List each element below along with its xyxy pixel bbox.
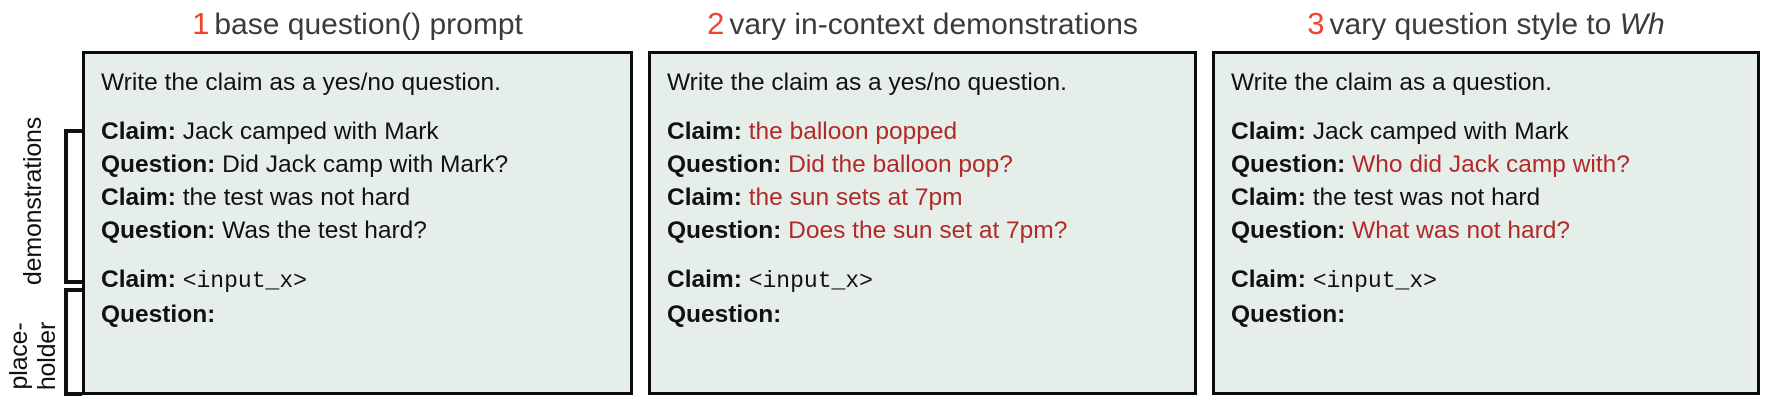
demo-value: Does the sun set at 7pm? — [788, 217, 1067, 244]
demo-label: Claim: — [101, 118, 176, 145]
demo-label: Question: — [667, 217, 781, 244]
panel-title-italic-3: Wh — [1620, 8, 1665, 41]
demo-value: Who did Jack camp with? — [1352, 151, 1630, 178]
demo-line: Question: What was not hard? — [1231, 214, 1757, 247]
placeholder-label-line1: place- — [5, 297, 33, 415]
demo-label: Claim: — [101, 184, 176, 211]
instruction-line-1: Write the claim as a yes/no question. — [101, 66, 630, 99]
placeholder-label: Claim: — [667, 266, 742, 293]
demo-value: Jack camped with Mark — [183, 118, 439, 145]
demo-line: Claim: Jack camped with Mark — [1231, 115, 1757, 148]
demo-value: the sun sets at 7pm — [749, 184, 963, 211]
demo-line: Claim: Jack camped with Mark — [101, 115, 630, 148]
demo-line: Question: Did Jack camp with Mark? — [101, 148, 630, 181]
placeholder-label: place- holder — [5, 297, 65, 415]
placeholder-label: Claim: — [1231, 266, 1306, 293]
demo-value: the balloon popped — [749, 118, 957, 145]
demo-value: Did the balloon pop? — [788, 151, 1013, 178]
panel-number-1: 1 — [192, 6, 214, 41]
demo-label: Question: — [1231, 217, 1345, 244]
placeholder-line: Claim: <input_x> — [1231, 263, 1757, 298]
placeholder-line: Question: — [667, 298, 1194, 331]
demo-label: Question: — [101, 151, 215, 178]
placeholder-line: Claim: <input_x> — [101, 263, 630, 298]
placeholder-line: Question: — [1231, 298, 1757, 331]
panel-title-text-2: vary in-context demonstrations — [729, 8, 1138, 41]
placeholder-line: Question: — [101, 298, 630, 331]
demo-label: Question: — [101, 217, 215, 244]
placeholder-token: <input_x> — [1313, 268, 1437, 294]
panel-title-2: 2vary in-context demonstrations — [648, 4, 1197, 45]
demonstrations-label: demonstrations — [18, 116, 48, 286]
demo-line: Claim: the test was not hard — [101, 181, 630, 214]
placeholder-label: Question: — [1231, 301, 1345, 328]
instruction-line-3: Write the claim as a question. — [1231, 66, 1757, 99]
prompt-box-2: Write the claim as a yes/no question. Cl… — [648, 51, 1197, 395]
placeholder-bracket — [64, 288, 82, 396]
instruction-line-2: Write the claim as a yes/no question. — [667, 66, 1194, 99]
demo-label: Question: — [667, 151, 781, 178]
prompt-box-3: Write the claim as a question. Claim: Ja… — [1212, 51, 1760, 395]
panel-title-1: 1base question() prompt — [82, 4, 633, 45]
demo-line: Question: Who did Jack camp with? — [1231, 148, 1757, 181]
demo-label: Question: — [1231, 151, 1345, 178]
prompt-box-1: Write the claim as a yes/no question. Cl… — [82, 51, 633, 395]
demo-line: Question: Was the test hard? — [101, 214, 630, 247]
demo-line: Question: Does the sun set at 7pm? — [667, 214, 1194, 247]
placeholder-token: <input_x> — [183, 268, 307, 294]
panel-title-text-3: vary question style to — [1330, 8, 1620, 41]
demo-value: Did Jack camp with Mark? — [222, 151, 508, 178]
demo-value: Jack camped with Mark — [1313, 118, 1569, 145]
demo-line: Claim: the sun sets at 7pm — [667, 181, 1194, 214]
sidebar-labels: demonstrations place- holder — [0, 0, 84, 416]
panel-title-text-1: base question() prompt — [214, 8, 523, 41]
demo-line: Claim: the balloon popped — [667, 115, 1194, 148]
panel-title-3: 3vary question style to Wh — [1212, 4, 1760, 45]
placeholder-token: <input_x> — [749, 268, 873, 294]
demo-value: the test was not hard — [183, 184, 410, 211]
placeholder-label: Question: — [101, 301, 215, 328]
panel-number-2: 2 — [707, 6, 729, 41]
demo-label: Claim: — [667, 184, 742, 211]
demo-label: Claim: — [1231, 184, 1306, 211]
panel-number-3: 3 — [1307, 6, 1329, 41]
placeholder-label: Question: — [667, 301, 781, 328]
placeholder-label-line2: holder — [33, 297, 61, 415]
placeholder-line: Claim: <input_x> — [667, 263, 1194, 298]
placeholder-label: Claim: — [101, 266, 176, 293]
demo-value: the test was not hard — [1313, 184, 1540, 211]
demo-value: Was the test hard? — [222, 217, 427, 244]
demo-line: Question: Did the balloon pop? — [667, 148, 1194, 181]
demo-label: Claim: — [667, 118, 742, 145]
demonstrations-bracket — [64, 129, 82, 284]
demo-label: Claim: — [1231, 118, 1306, 145]
demo-line: Claim: the test was not hard — [1231, 181, 1757, 214]
demo-value: What was not hard? — [1352, 217, 1570, 244]
